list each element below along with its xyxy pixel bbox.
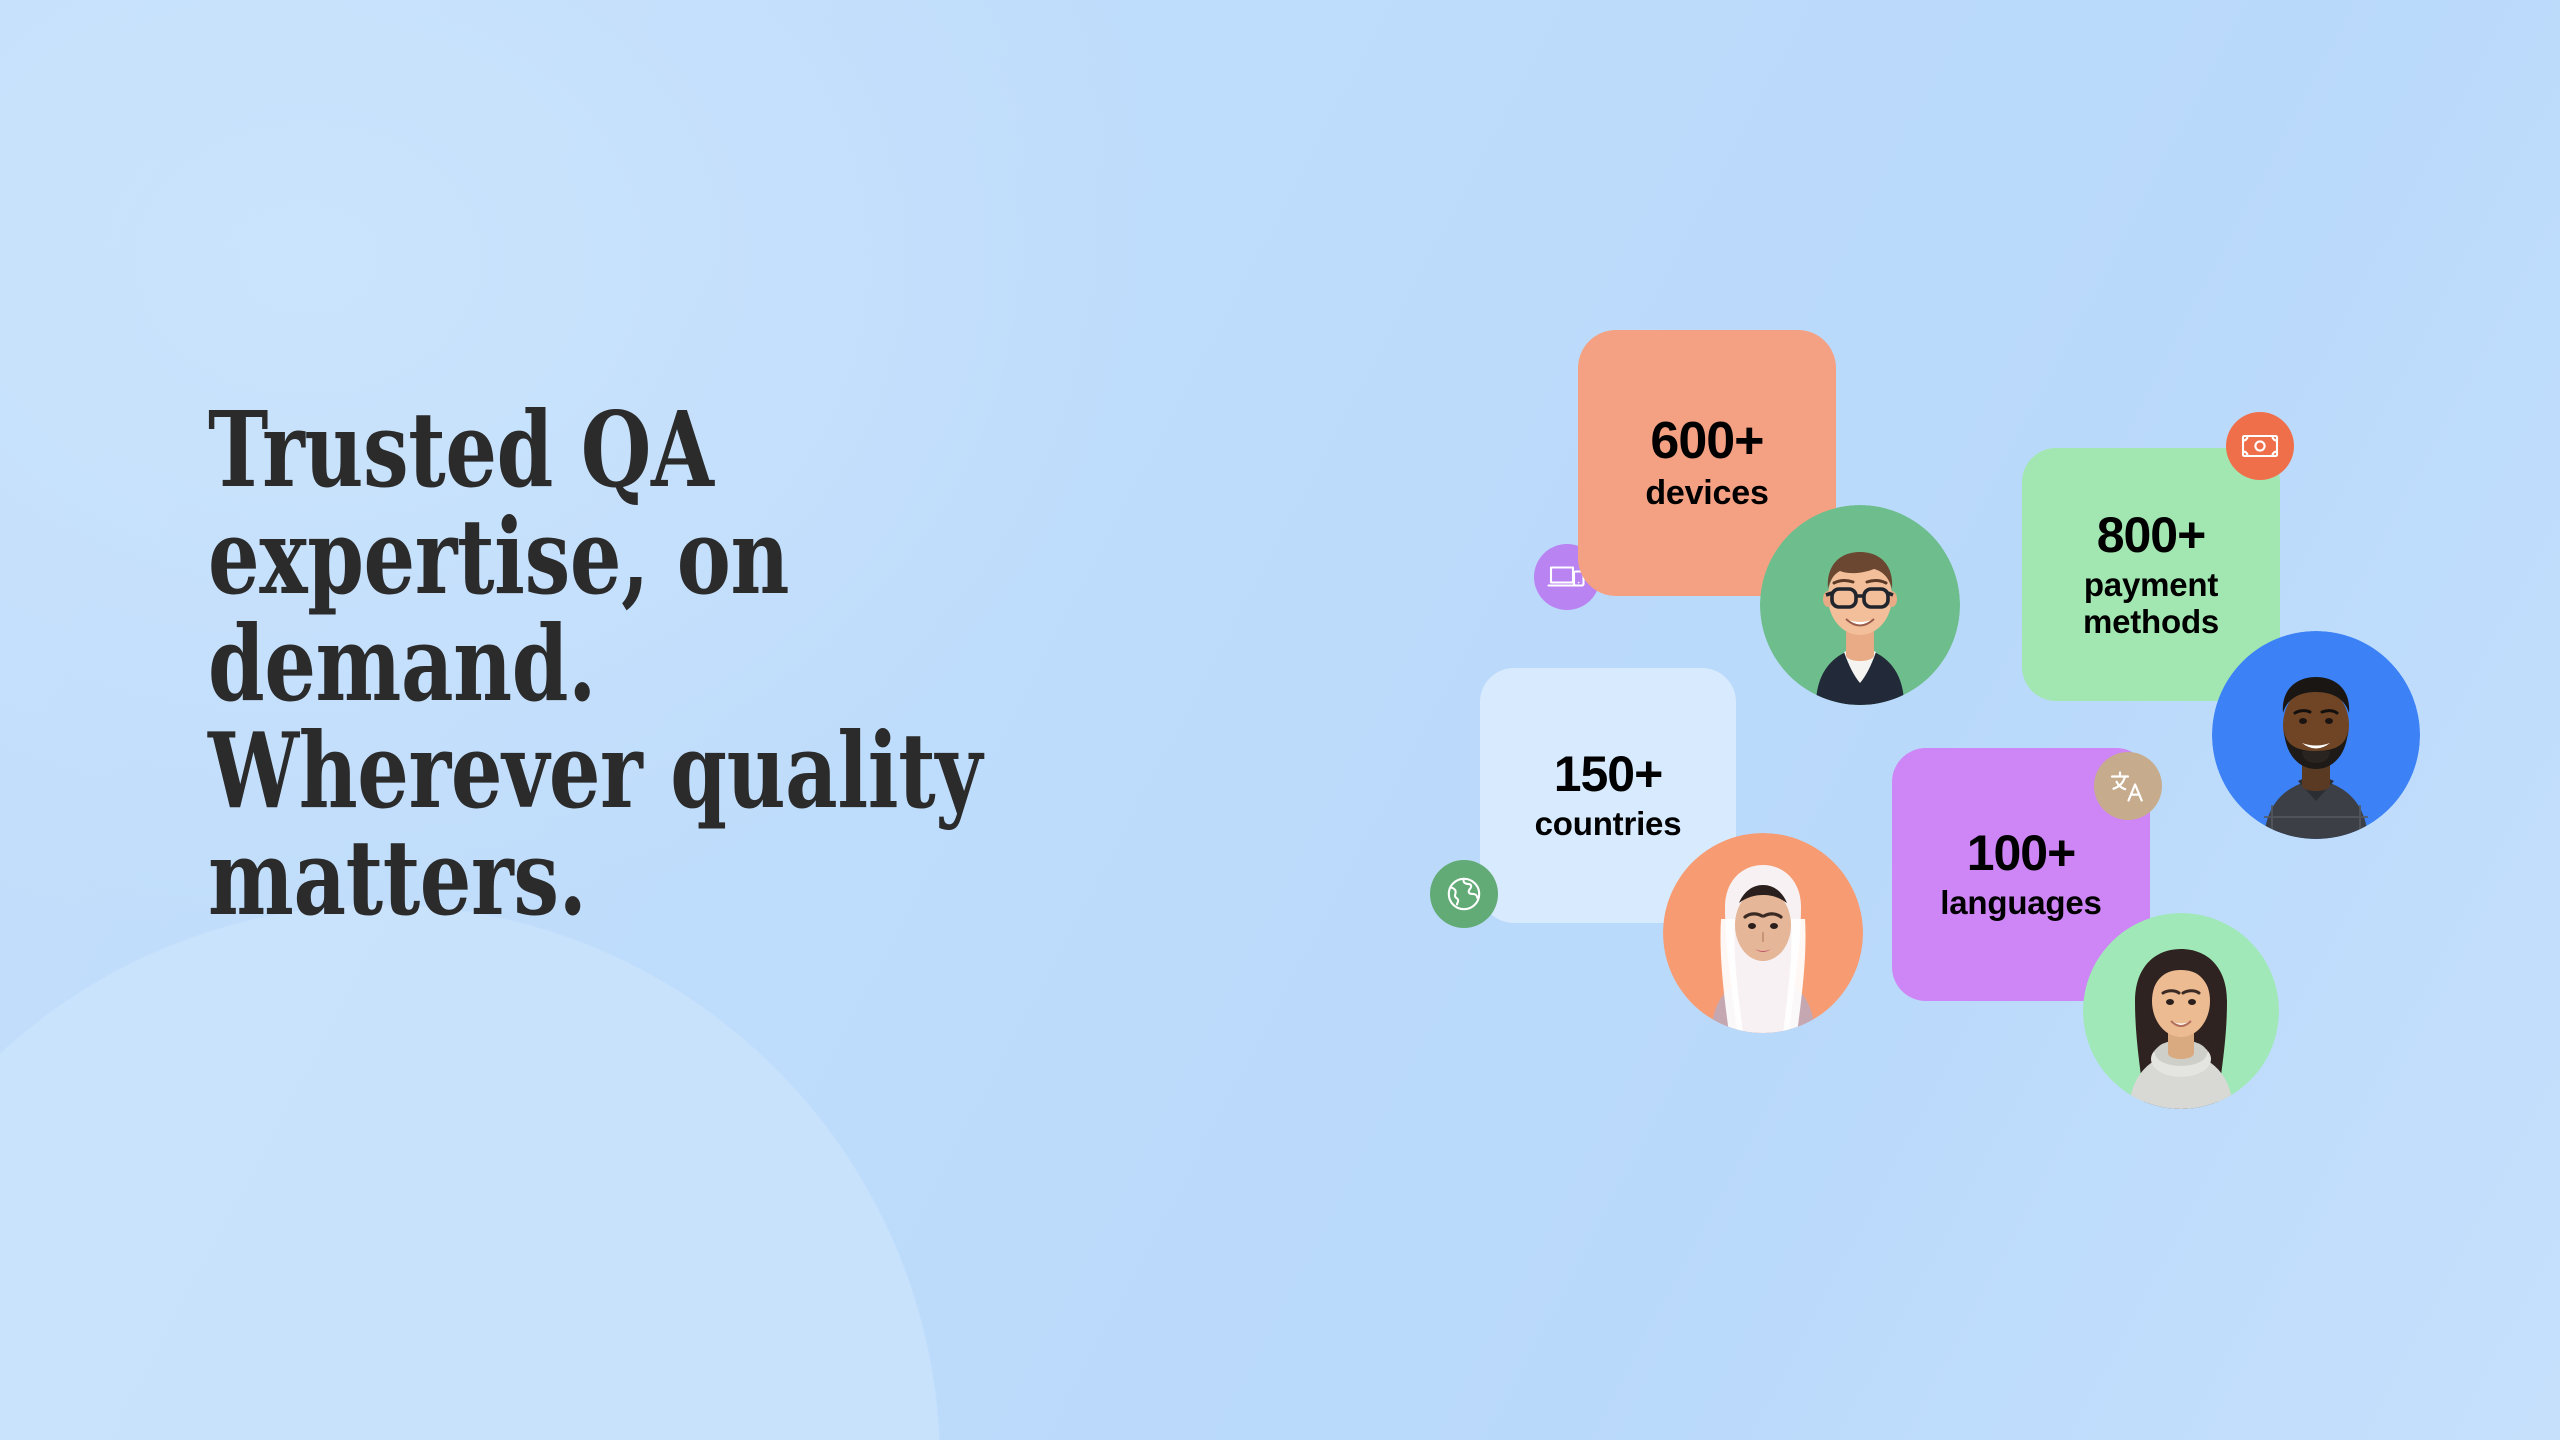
stat-value: 100+ bbox=[1967, 827, 2076, 879]
stat-label: countries bbox=[1535, 806, 1682, 843]
avatar bbox=[1760, 505, 1960, 705]
stat-label: devices bbox=[1645, 474, 1768, 512]
avatar bbox=[2083, 913, 2279, 1109]
stat-label: payment methods bbox=[2036, 567, 2266, 641]
stat-value: 600+ bbox=[1650, 414, 1763, 468]
avatar bbox=[1663, 833, 1863, 1033]
translate-icon bbox=[2094, 752, 2162, 820]
globe-icon bbox=[1430, 860, 1498, 928]
stat-value: 150+ bbox=[1554, 748, 1663, 800]
hero-section: Trusted QA expertise, on demand. Whereve… bbox=[0, 0, 2560, 1440]
stat-label: languages bbox=[1940, 885, 2101, 922]
stats-collage: 600+ devices 800+ payment methods 150+ c… bbox=[0, 0, 2560, 1440]
banknote-icon bbox=[2226, 412, 2294, 480]
stat-value: 800+ bbox=[2097, 509, 2206, 561]
avatar bbox=[2212, 631, 2420, 839]
